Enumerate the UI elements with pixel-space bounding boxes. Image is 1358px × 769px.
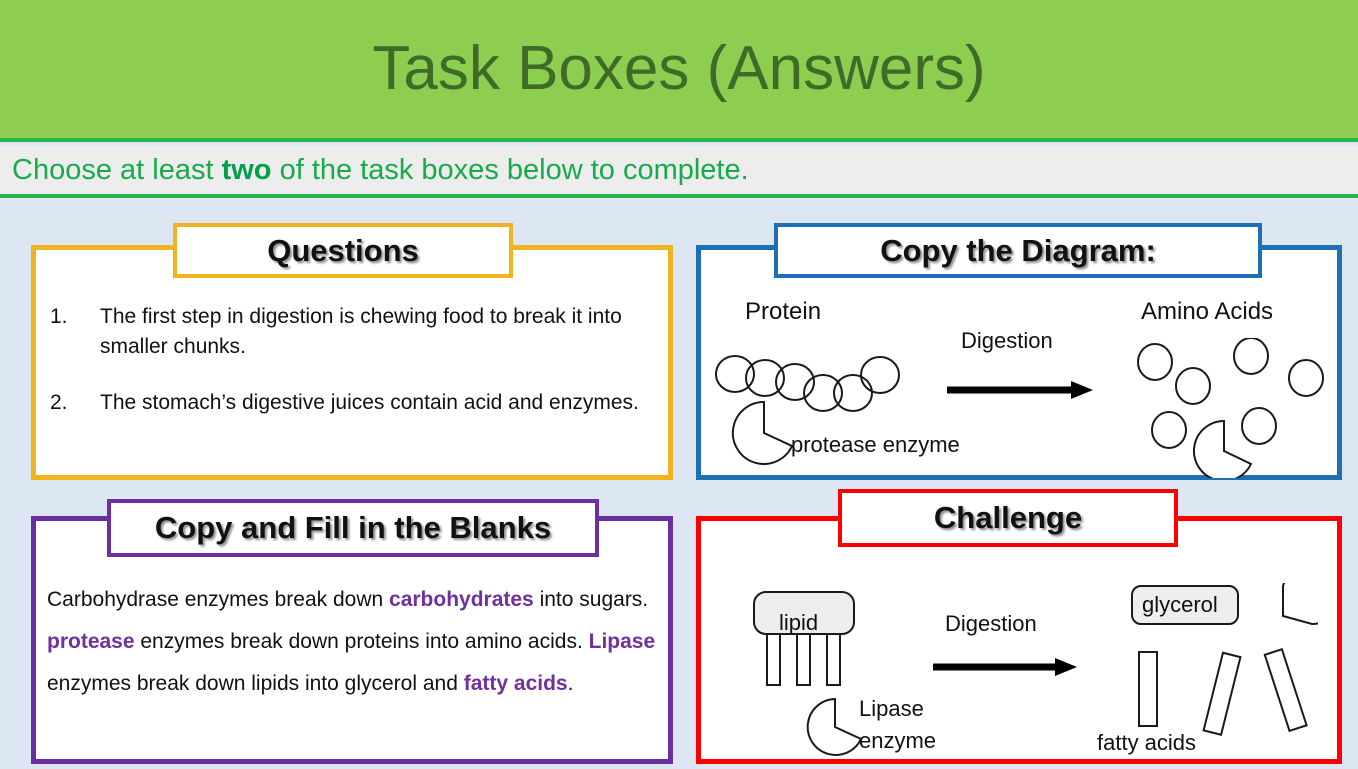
blank-answer: Lipase [589,630,656,653]
challenge-enzyme-icon [1252,583,1318,649]
page-title: Task Boxes (Answers) [372,38,985,100]
lipase-enzyme-icon [805,697,865,757]
instruction-text: Choose at least two of the task boxes be… [12,154,749,187]
digestion-arrow-icon [945,378,1095,402]
question-number: 1. [50,302,100,363]
task-box-questions[interactable]: 1. The first step in digestion is chewin… [31,245,673,480]
task-badge-copy-the-diagram: Copy the Diagram: [774,223,1262,278]
task-badge-challenge: Challenge [838,489,1178,547]
task-title-questions: Questions [267,233,419,269]
lipase-enzyme-label-line1: Lipase [859,696,924,722]
blank-segment: into sugars. [534,588,648,611]
instruction-bar: Choose at least two of the task boxes be… [0,146,1358,198]
lipase-enzyme-label-line2: enzyme [859,728,936,754]
question-number: 2. [50,388,100,418]
glycerol-label: glycerol [1142,592,1218,618]
questions-list: 1. The first step in digestion is chewin… [50,302,662,443]
blank-answer: protease [47,630,135,653]
instruction-emphasis: two [222,154,272,186]
protease-enzyme-icon [731,400,797,466]
task-badge-questions: Questions [173,223,513,278]
slide-header: Task Boxes (Answers) [0,0,1358,142]
list-item: 2. The stomach’s digestive juices contai… [50,388,662,418]
task-box-challenge[interactable]: lipid Lipase enzyme Digestion glycerol [696,516,1342,764]
task-title-challenge: Challenge [934,500,1082,536]
slide-root: Task Boxes (Answers) Choose at least two… [0,0,1358,769]
fill-in-the-blanks-paragraph: Carbohydrase enzymes break down carbohyd… [47,579,669,705]
diagram-label-protein: Protein [745,298,821,326]
task-title-copy-the-diagram: Copy the Diagram: [880,233,1156,269]
task-badge-fill-in-the-blanks: Copy and Fill in the Blanks [107,499,599,557]
instruction-suffix: of the task boxes below to complete. [272,154,749,186]
blank-segment: enzymes break down proteins into amino a… [135,630,589,653]
task-box-copy-the-diagram[interactable]: Protein Amino Acids Digestion protease e… [696,245,1342,480]
blank-segment: Carbohydrase enzymes break down [47,588,389,611]
diagram-label-protease-enzyme: protease enzyme [791,432,960,458]
blank-answer: fatty acids [464,672,568,695]
task-title-fill-in-the-blanks: Copy and Fill in the Blanks [155,510,551,546]
challenge-digestion-arrow-icon [931,655,1079,679]
blank-segment: enzymes break down lipids into glycerol … [47,672,464,695]
challenge-label-digestion: Digestion [945,611,1037,637]
list-item: 1. The first step in digestion is chewin… [50,302,662,363]
question-text: The stomach’s digestive juices contain a… [100,388,662,418]
lipid-molecule-icon [749,584,859,694]
instruction-prefix: Choose at least [12,154,222,186]
blank-segment: . [568,672,574,695]
blank-answer: carbohydrates [389,588,534,611]
fatty-acids-label: fatty acids [1097,730,1196,756]
amino-acids-icon [1131,338,1336,478]
diagram-label-amino-acids: Amino Acids [1141,298,1273,326]
question-text: The first step in digestion is chewing f… [100,302,662,363]
lipid-label: lipid [779,610,818,636]
diagram-label-digestion: Digestion [961,328,1053,354]
